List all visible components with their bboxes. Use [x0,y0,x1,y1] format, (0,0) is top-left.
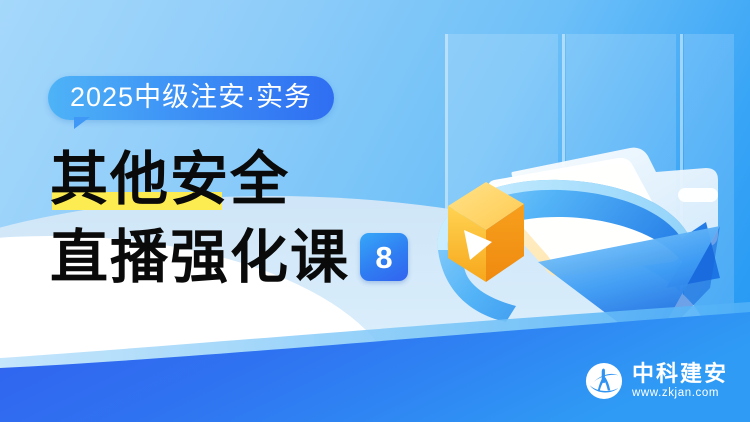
course-tag-pill: 2025中级注安·实务 [48,76,334,120]
brand-url: www.zkjan.com [632,388,728,400]
course-tag: 2025中级注安·实务 [48,76,334,120]
course-poster: 2025中级注安·实务 其他安全 直播强化课 8 中科建安 www.zkja [0,0,750,422]
brand-text-block: 中科建安 www.zkjan.com [632,362,728,400]
person-swoosh-circle-icon [585,362,623,400]
headline-line-2: 直播强化课 [50,228,350,286]
headline-row-1: 其他安全 [50,150,408,208]
course-tag-pointer [74,117,90,129]
episode-badge-number: 8 [375,242,392,273]
brand-name: 中科建安 [632,362,728,385]
brand-logo: 中科建安 www.zkjan.com [585,362,728,400]
headline-line-1: 其他安全 [50,150,290,208]
episode-badge: 8 [360,233,408,281]
poster-headline: 其他安全 直播强化课 8 [50,150,408,286]
course-tag-label: 2025中级注安·实务 [70,84,312,111]
headline-row-2: 直播强化课 8 [50,228,408,286]
